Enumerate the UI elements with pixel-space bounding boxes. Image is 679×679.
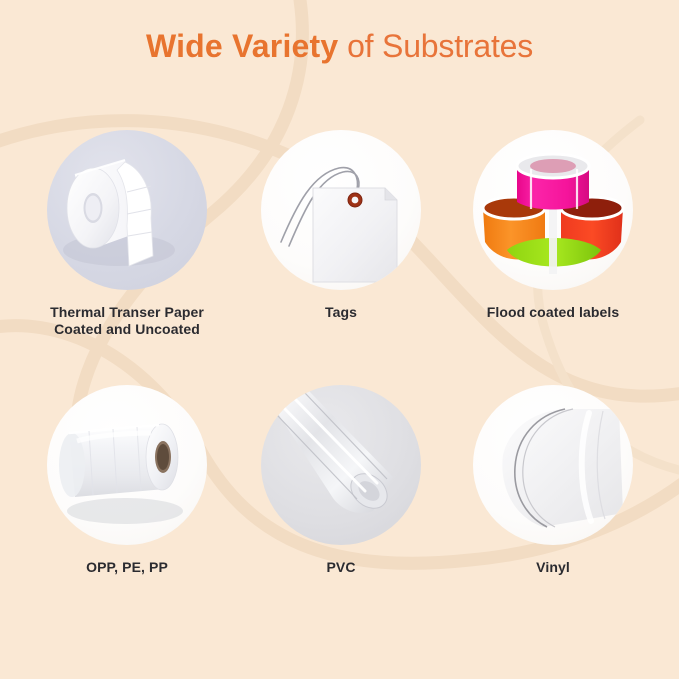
caption-flood-coated-labels: Flood coated labels — [440, 304, 666, 321]
caption-opp-pe-pp: OPP, PE, PP — [14, 559, 240, 576]
caption-line-1: Thermal Transer Paper — [50, 304, 204, 320]
disc-background-white — [47, 385, 207, 545]
item-flood-coated-labels[interactable]: Flood coated labels — [440, 130, 666, 321]
item-vinyl[interactable]: Vinyl — [440, 385, 666, 576]
caption-line-1: Flood coated labels — [487, 304, 620, 320]
infographic-page: Wide Variety of Substrates — [0, 0, 679, 679]
thumbnail-vinyl — [473, 385, 633, 545]
white-label-roll-icon — [47, 130, 207, 290]
thumbnail-tags — [261, 130, 421, 290]
caption-pvc: PVC — [228, 559, 454, 576]
plastic-film-roll-icon — [47, 385, 207, 545]
disc-background-white — [261, 130, 421, 290]
disc-background-white — [473, 385, 633, 545]
thumbnail-pvc — [261, 385, 421, 545]
disc-background-white — [473, 130, 633, 290]
thumbnail-opp-pe-pp — [47, 385, 207, 545]
item-tags[interactable]: Tags — [228, 130, 454, 321]
clear-vinyl-sheet-icon — [473, 385, 633, 545]
page-title: Wide Variety of Substrates — [0, 26, 679, 66]
thumbnail-thermal-transfer-paper — [47, 130, 207, 290]
disc-background-gray — [47, 130, 207, 290]
fluorescent-label-rolls-icon — [473, 130, 633, 290]
item-pvc[interactable]: PVC — [228, 385, 454, 576]
caption-tags: Tags — [228, 304, 454, 321]
caption-line-1: PVC — [326, 559, 355, 575]
caption-line-1: OPP, PE, PP — [86, 559, 168, 575]
caption-line-1: Vinyl — [536, 559, 570, 575]
white-tag-with-wire-icon — [261, 130, 421, 290]
item-opp-pe-pp[interactable]: OPP, PE, PP — [14, 385, 240, 576]
caption-line-1: Tags — [325, 304, 357, 320]
title-strong: Wide Variety — [146, 28, 338, 64]
caption-vinyl: Vinyl — [440, 559, 666, 576]
title-light: of Substrates — [338, 28, 533, 64]
caption-thermal-transfer-paper: Thermal Transer Paper Coated and Uncoate… — [14, 304, 240, 338]
disc-background-graylite — [261, 385, 421, 545]
clear-pvc-sheet-icon — [261, 385, 421, 545]
item-thermal-transfer-paper[interactable]: Thermal Transer Paper Coated and Uncoate… — [14, 130, 240, 338]
substrate-grid: Thermal Transer Paper Coated and Uncoate… — [0, 130, 679, 650]
caption-line-2: Coated and Uncoated — [14, 321, 240, 338]
thumbnail-flood-coated-labels — [473, 130, 633, 290]
